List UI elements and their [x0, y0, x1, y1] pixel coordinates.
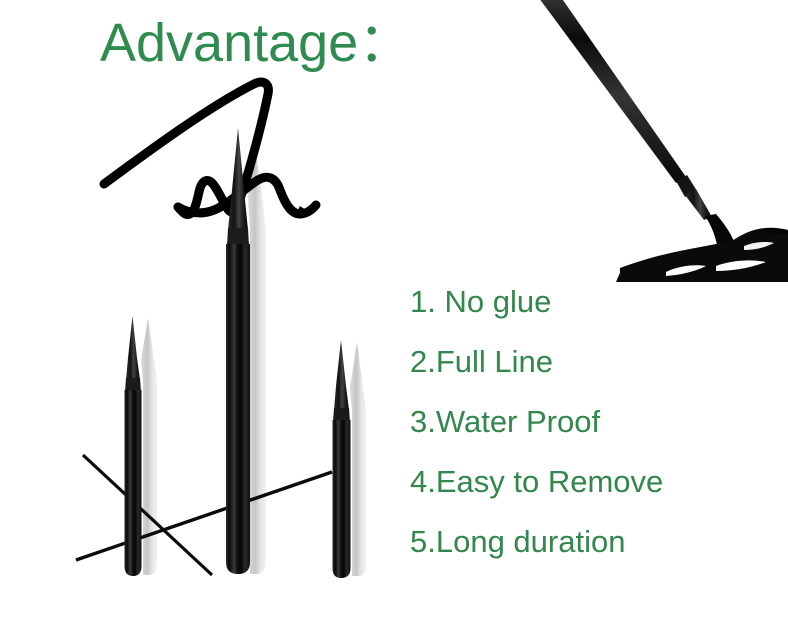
page-title: Advantage：	[100, 16, 412, 70]
pen-center-ferrule	[227, 228, 249, 246]
eyeliner-stroke-squiggle	[104, 82, 317, 214]
pen-diagonal-tip	[685, 189, 712, 220]
pen-shadow-group	[141, 138, 366, 576]
eyeliner-pen-center	[226, 128, 250, 574]
list-item: 4.Easy to Remove	[410, 452, 750, 512]
pen-center-barrel	[226, 244, 250, 574]
pen-left-ferrule	[125, 378, 141, 392]
pen-right-barrel	[333, 420, 351, 578]
advantage-list: 1. No glue 2.Full Line 3.Water Proof 4.E…	[410, 272, 750, 572]
pen-left-tip	[126, 316, 140, 380]
eyeliner-pen-left	[125, 316, 142, 576]
pen-shadow-center	[248, 138, 266, 574]
list-item: 3.Water Proof	[410, 392, 750, 452]
pen-right-ferrule	[333, 408, 350, 422]
list-item: 1. No glue	[410, 272, 750, 332]
eyeliner-pen-right	[333, 340, 351, 578]
list-item: 2.Full Line	[410, 332, 750, 392]
pen-left-barrel	[125, 390, 142, 576]
pen-diagonal-barrel	[533, 0, 686, 183]
pen-right-tip	[334, 340, 349, 410]
thin-lines-group	[76, 455, 332, 575]
pen-shadow-right	[350, 342, 366, 576]
list-item: 5.Long duration	[410, 512, 750, 572]
advantage-poster: Advantage： 1. No glue 2.Full Line 3.Wate…	[0, 0, 788, 636]
eyeliner-pen-diagonal	[533, 0, 712, 220]
